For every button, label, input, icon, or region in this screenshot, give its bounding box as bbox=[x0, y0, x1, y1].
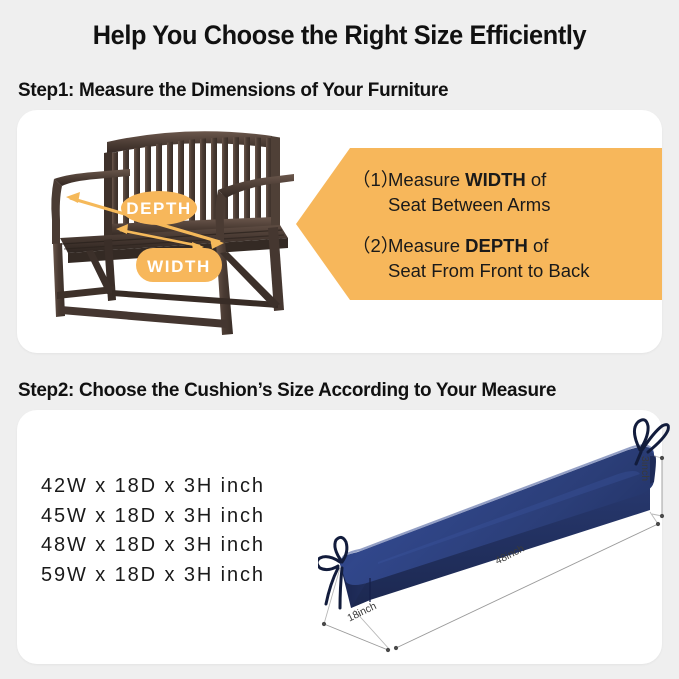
bench-illustration: DEPTH WIDTH bbox=[22, 120, 322, 345]
page-title: Help You Choose the Right Size Efficient… bbox=[15, 20, 663, 51]
size-option-2: 45W x 18D x 3H inch bbox=[41, 502, 341, 532]
infographic-page: Help You Choose the Right Size Efficient… bbox=[0, 0, 679, 679]
depth-label-pill: DEPTH bbox=[121, 191, 197, 225]
callout-item-1-number: （1） bbox=[352, 167, 388, 192]
callout-item-2-text-a: Measure bbox=[388, 235, 465, 256]
cushion-height-label: 3inch bbox=[639, 456, 651, 481]
callout-item-1-line-2: Seat Between Arms bbox=[352, 192, 652, 217]
callout-spacer bbox=[352, 217, 652, 233]
cushion-tie-left bbox=[318, 537, 347, 608]
size-option-4: 59W x 18D x 3H inch bbox=[41, 561, 341, 591]
callout-item-2-line-2: Seat From Front to Back bbox=[352, 258, 652, 283]
callout-item-1-text-a: Measure bbox=[388, 169, 465, 190]
size-option-1: 42W x 18D x 3H inch bbox=[41, 472, 341, 502]
callout-item-2-line-1: （2）Measure DEPTH of bbox=[352, 233, 652, 258]
width-label-pill: WIDTH bbox=[136, 248, 222, 282]
step1-heading: Step1: Measure the Dimensions of Your Fu… bbox=[18, 79, 448, 102]
callout-item-1-text-b: of bbox=[526, 169, 547, 190]
cushion-illustration bbox=[318, 412, 674, 660]
callout-item-2-bold: DEPTH bbox=[465, 235, 528, 256]
width-arrow-head-left bbox=[66, 192, 80, 203]
size-option-3: 48W x 18D x 3H inch bbox=[41, 531, 341, 561]
depth-label-text: DEPTH bbox=[126, 199, 192, 218]
callout-item-1-bold: WIDTH bbox=[465, 169, 526, 190]
width-label-text: WIDTH bbox=[147, 257, 211, 276]
step2-heading: Step2: Choose the Cushion’s Size Accordi… bbox=[18, 379, 556, 402]
callout-item-2-number: （2） bbox=[352, 233, 388, 258]
callout-item-2-text-b: of bbox=[528, 235, 549, 256]
callout-item-1-line-1: （1）Measure WIDTH of bbox=[352, 167, 652, 192]
callout-text: （1）Measure WIDTH of Seat Between Arms （2… bbox=[352, 158, 652, 292]
size-list: 42W x 18D x 3H inch 45W x 18D x 3H inch … bbox=[41, 472, 341, 590]
